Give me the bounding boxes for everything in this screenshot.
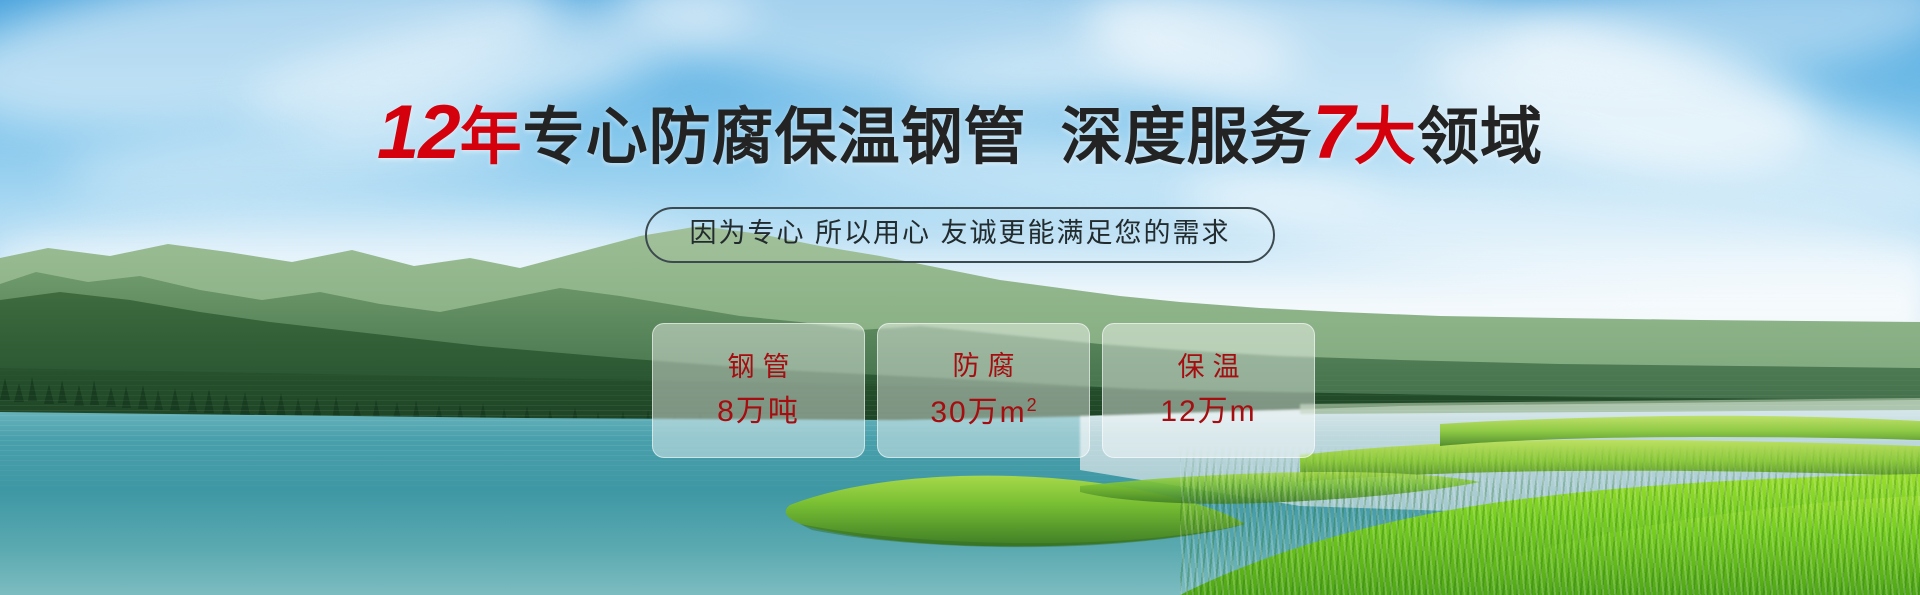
stat-card-steel-pipe: 钢管 8万吨 [652, 323, 865, 458]
subtitle-container: 因为专心 所以用心 友诚更能满足您的需求 [0, 207, 1920, 263]
banner-content: 12年专心防腐保温钢管深度服务7大领域 因为专心 所以用心 友诚更能满足您的需求… [0, 0, 1920, 595]
stat-card-value: 30万m2 [930, 396, 1036, 428]
subtitle-pill: 因为专心 所以用心 友诚更能满足您的需求 [645, 207, 1274, 263]
stat-card-list: 钢管 8万吨 防腐 30万m2 保温 12万m [652, 323, 1315, 458]
hero-banner: 12年专心防腐保温钢管深度服务7大领域 因为专心 所以用心 友诚更能满足您的需求… [0, 0, 1920, 595]
headline-service-text: 深度服务 [1061, 103, 1313, 172]
stat-card-anticorrosion: 防腐 30万m2 [877, 323, 1090, 458]
stat-card-title: 防腐 [945, 353, 1023, 380]
headline-years-unit: 年 [460, 103, 523, 172]
headline-fields-unit: 大 [1354, 103, 1417, 172]
stat-card-value-text: 8万吨 [717, 395, 800, 428]
stat-card-value-superscript: 2 [1027, 395, 1037, 415]
page-title: 12年专心防腐保温钢管深度服务7大领域 [0, 95, 1920, 171]
stat-card-value-text: 12万m [1160, 395, 1256, 428]
headline-fields-number: 7 [1313, 90, 1354, 175]
stat-card-value: 8万吨 [717, 397, 800, 427]
stat-card-title: 钢管 [720, 354, 798, 381]
headline-fields-text: 领域 [1417, 103, 1543, 172]
headline-main-text: 专心防腐保温钢管 [523, 103, 1027, 172]
stat-card-value-text: 30万m [930, 396, 1026, 429]
headline-years-number: 12 [377, 90, 460, 175]
stat-card-value: 12万m [1160, 397, 1256, 427]
stat-card-insulation: 保温 12万m [1102, 323, 1315, 458]
stat-card-title: 保温 [1170, 354, 1248, 381]
